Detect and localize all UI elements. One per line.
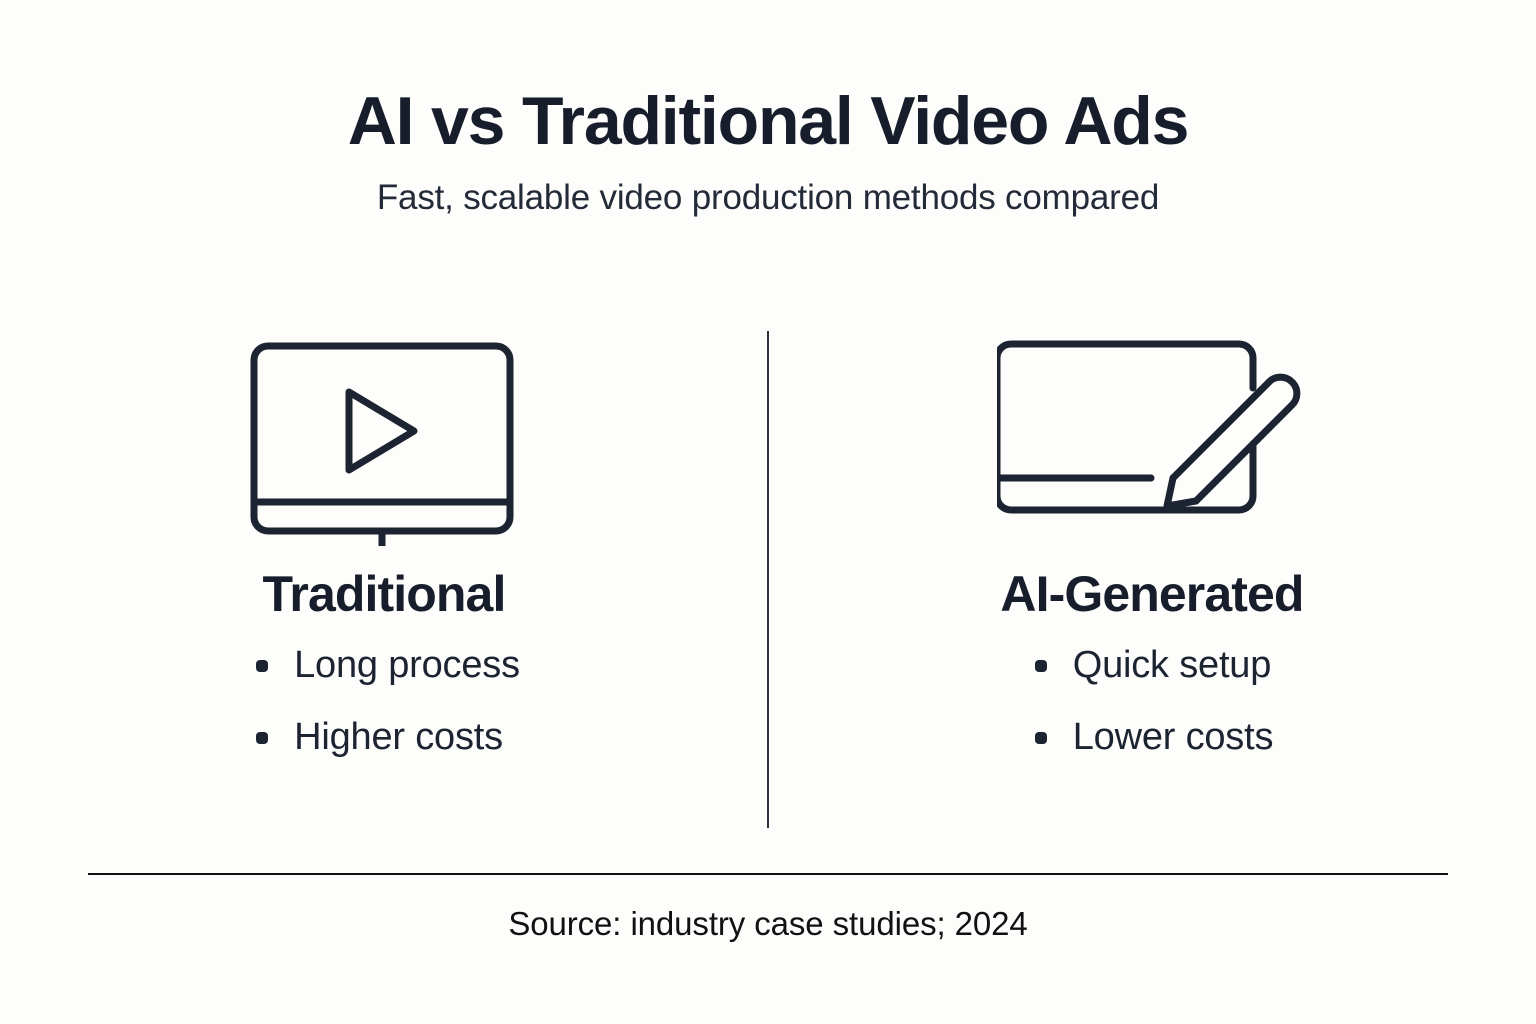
bullet-list-traditional: Long process Higher costs xyxy=(256,644,520,787)
source-note: Source: industry case studies; 2024 xyxy=(0,905,1536,943)
list-item: Long process xyxy=(256,644,520,688)
list-item: Quick setup xyxy=(1035,644,1274,688)
bullet-dot-icon xyxy=(256,660,268,672)
comparison-columns: Traditional Long process Higher costs xyxy=(0,326,1536,846)
bullet-dot-icon xyxy=(1035,732,1047,744)
list-item: Lower costs xyxy=(1035,716,1274,760)
page-subtitle: Fast, scalable video production methods … xyxy=(0,179,1536,218)
bullet-dot-icon xyxy=(1035,660,1047,672)
bullet-label: Long process xyxy=(294,644,520,688)
bullet-label: Higher costs xyxy=(294,716,503,760)
bullet-list-ai-generated: Quick setup Lower costs xyxy=(1035,644,1274,787)
page-title: AI vs Traditional Video Ads xyxy=(0,86,1536,157)
column-ai-generated: AI-Generated Quick setup Lower costs xyxy=(768,326,1536,846)
column-title-ai-generated: AI-Generated xyxy=(1000,558,1303,630)
header: AI vs Traditional Video Ads Fast, scalab… xyxy=(0,86,1536,218)
bullet-dot-icon xyxy=(256,732,268,744)
board-pencil-icon xyxy=(997,326,1307,558)
list-item: Higher costs xyxy=(256,716,520,760)
footer-divider xyxy=(88,873,1448,875)
bullet-label: Quick setup xyxy=(1073,644,1271,688)
column-title-traditional: Traditional xyxy=(263,558,506,630)
infographic-slide: AI vs Traditional Video Ads Fast, scalab… xyxy=(0,0,1536,1024)
bullet-label: Lower costs xyxy=(1073,716,1274,760)
column-traditional: Traditional Long process Higher costs xyxy=(0,326,768,846)
monitor-play-icon xyxy=(244,326,524,558)
